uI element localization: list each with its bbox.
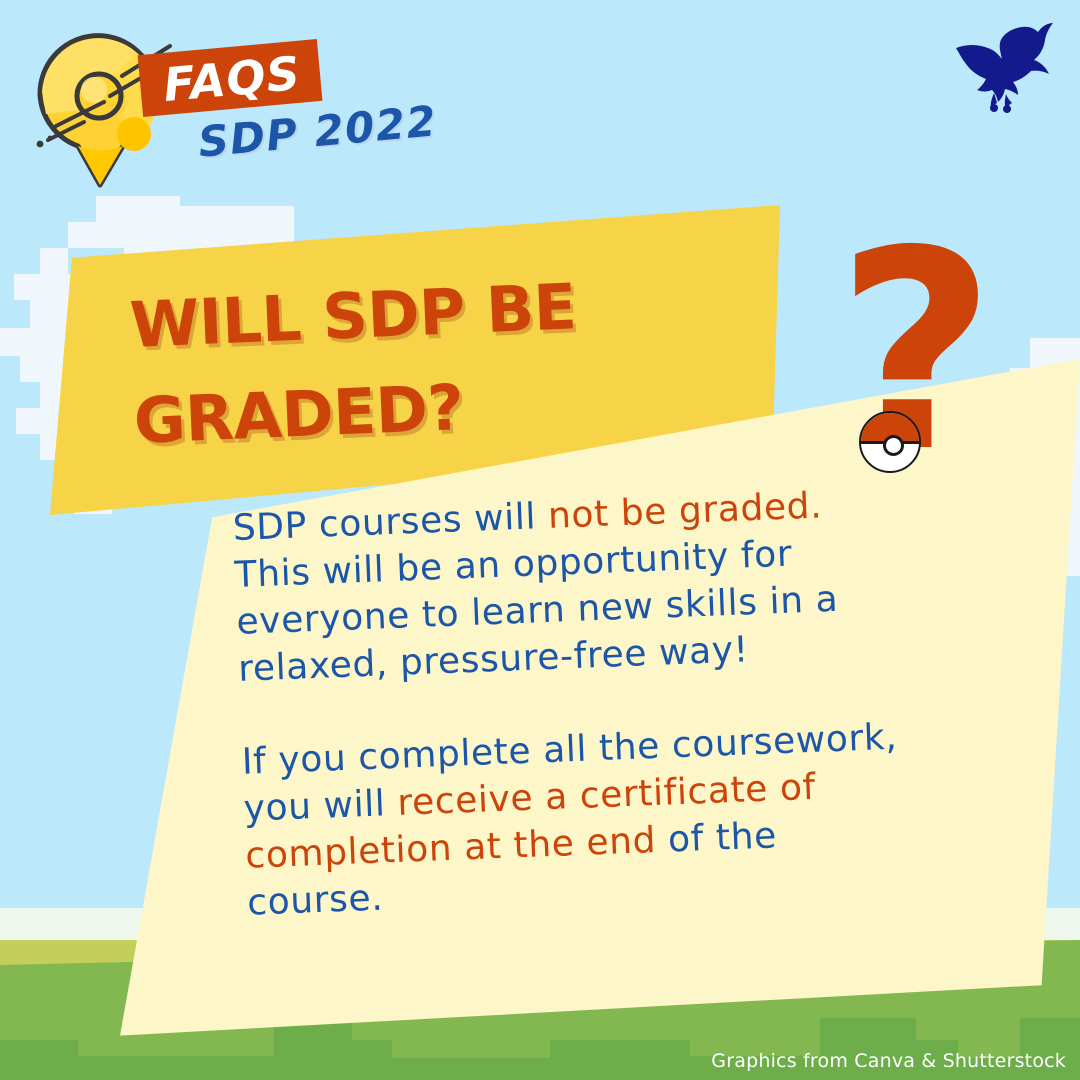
grass-pixel (78, 1056, 274, 1080)
grass-pixel (0, 1040, 78, 1080)
faq-poster: FAQS SDP 2022 WILL SDP BE GRADED? SDP co… (0, 0, 1080, 1080)
pokeball-button (883, 435, 904, 456)
grass-pixel (550, 1040, 690, 1080)
answer-paragraph-2: If you complete all the coursework, you … (241, 713, 920, 927)
highlight-text: not be graded. (547, 485, 823, 536)
answer-paragraph-1: SDP courses will not be graded. This wil… (232, 479, 911, 693)
pokeball-icon (859, 411, 921, 473)
normal-text: SDP courses will (232, 496, 549, 549)
grass-pixel (352, 1040, 392, 1080)
answer-text: SDP courses will not be graded. This wil… (232, 479, 920, 926)
normal-text: This will be an opportunity for everyone… (234, 534, 839, 690)
grass-pixel (392, 1058, 550, 1080)
grass-pixel (274, 1018, 352, 1080)
graphics-credit: Graphics from Canva & Shutterstock (711, 1050, 1066, 1072)
eagle-logo-icon (950, 20, 1055, 115)
